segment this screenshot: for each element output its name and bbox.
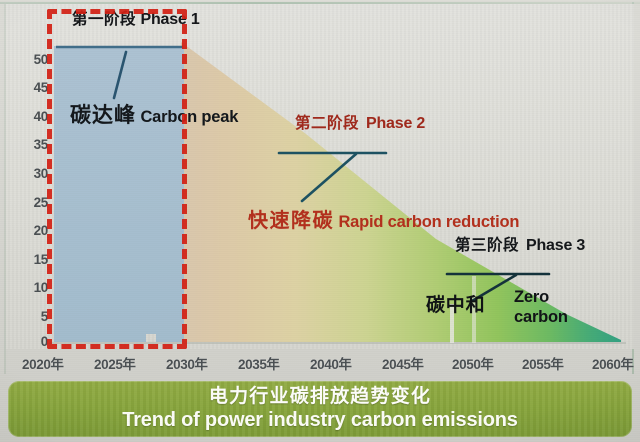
y-tick-35: 35 xyxy=(14,138,48,152)
phase-3-label-cn: 第三阶段 xyxy=(455,238,519,254)
y-axis: 50 45 40 35 30 25 20 15 10 5 0 xyxy=(6,4,48,349)
carbon-peak-annotation: 碳达峰 Carbon peak xyxy=(70,99,238,127)
phase-1-annotation: 第一阶段 Phase 1 xyxy=(72,12,200,29)
x-tick-2050: 2050年 xyxy=(452,353,494,373)
x-tick-2045: 2045年 xyxy=(382,353,424,373)
x-tick-2025: 2025年 xyxy=(94,353,136,373)
y-tick-5: 5 xyxy=(14,310,48,324)
y-tick-10: 10 xyxy=(14,281,48,295)
carbon-peak-label-en: Carbon peak xyxy=(140,109,238,126)
emissions-area-plateau xyxy=(54,46,184,342)
slide-photo: 50 45 40 35 30 25 20 15 10 5 0 第一阶段 Phas… xyxy=(0,0,640,442)
x-tick-2030: 2030年 xyxy=(166,353,208,373)
chart-plot-area: 50 45 40 35 30 25 20 15 10 5 0 第一阶段 Phas… xyxy=(6,4,634,349)
banner-title-cn: 电力行业碳排放趋势变化 xyxy=(209,387,431,408)
zero-carbon-label-line2: carbon xyxy=(514,309,568,326)
phase-2-label-en: Phase 2 xyxy=(366,116,425,133)
rapid-reduction-label-en: Rapid carbon reduction xyxy=(338,214,519,231)
phase-3-annotation: 第三阶段Phase 3 xyxy=(455,238,585,255)
carbon-neutral-label-cn: 碳中和 xyxy=(426,296,485,316)
x-tick-2055: 2055年 xyxy=(522,353,564,373)
x-tick-2035: 2035年 xyxy=(238,353,280,373)
phase-1-label-en: Phase 1 xyxy=(140,12,199,29)
carbon-peak-label-cn: 碳达峰 xyxy=(70,105,136,127)
x-tick-2040: 2040年 xyxy=(310,353,352,373)
y-tick-50: 50 xyxy=(14,53,48,67)
screenshot-root: 50 45 40 35 30 25 20 15 10 5 0 第一阶段 Phas… xyxy=(0,0,640,442)
carbon-neutral-annotation: 碳中和 xyxy=(426,296,485,316)
phase-2-label-cn: 第二阶段 xyxy=(295,116,359,132)
y-tick-40: 40 xyxy=(14,110,48,124)
y-tick-45: 45 xyxy=(14,81,48,95)
banner-title-en: Trend of power industry carbon emissions xyxy=(122,409,517,431)
y-tick-0: 0 xyxy=(14,335,48,349)
zero-carbon-annotation: Zero carbon xyxy=(514,289,568,327)
y-tick-25: 25 xyxy=(14,196,48,210)
x-tick-2060: 2060年 xyxy=(592,353,634,373)
y-tick-15: 15 xyxy=(14,253,48,267)
rapid-reduction-annotation: 快速降碳 Rapid carbon reduction xyxy=(206,211,519,232)
chart-title-banner: 电力行业碳排放趋势变化 Trend of power industry carb… xyxy=(8,381,632,437)
phase-3-label-en: Phase 3 xyxy=(526,238,585,255)
y-tick-30: 30 xyxy=(14,167,48,181)
x-tick-2020: 2020年 xyxy=(22,353,64,373)
zero-carbon-label-line1: Zero xyxy=(514,289,568,306)
phase-2-annotation: 第二阶段Phase 2 xyxy=(295,116,425,133)
y-tick-20: 20 xyxy=(14,224,48,238)
x-axis: 2020年 2025年 2030年 2035年 2040年 2045年 2050… xyxy=(0,352,640,374)
phase-1-label-cn: 第一阶段 xyxy=(72,12,136,28)
rapid-reduction-label-cn: 快速降碳 xyxy=(248,211,334,232)
